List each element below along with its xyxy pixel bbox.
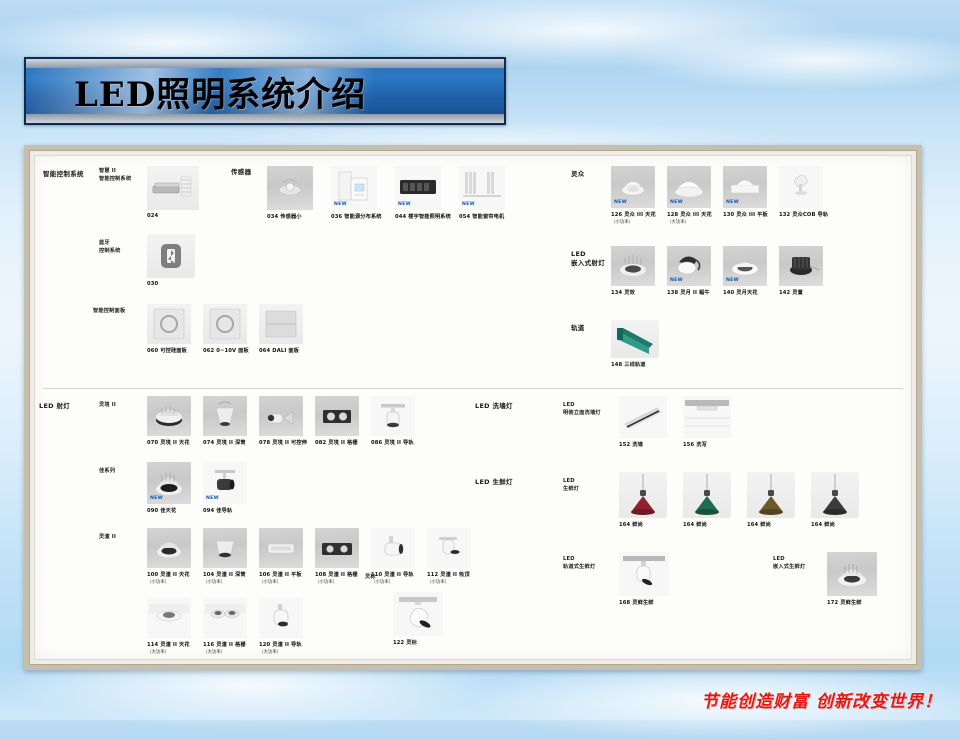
product-caption: 156洗写 [683,441,707,448]
product-thumbnail [619,472,667,518]
product-thumbnail [779,166,823,208]
product-name: 灵月天花 [736,290,757,296]
product-name: 灵潼 II 吸顶 [440,572,469,578]
product-number: 064 [259,348,270,354]
product-name: 灵潼 II 平板 [272,572,301,578]
surface-track-light-icon [393,592,443,636]
product-cell-090[interactable]: NEW 090佳天花 [147,462,191,504]
product-name: 灵潼 II 导轨 [384,572,413,578]
slide-title-banner: LED照明系统介绍 [24,57,506,125]
surface-spotlight-icon [427,528,471,568]
product-thumbnail [611,246,655,286]
product-caption: 142灵置 [779,289,803,296]
product-cell-044[interactable]: NEW 044楼宇智能照明系统 [395,166,441,210]
product-thumbnail: NEW [667,246,711,286]
product-caption: 110灵潼 II 导轨 （小功率） [371,571,414,585]
product-cell-030[interactable]: 030 [147,234,195,278]
product-number: 126 [611,212,622,218]
new-badge: NEW [726,200,739,205]
product-caption: 164鲜尚 [811,521,835,528]
product-name: 洗墙 [632,442,643,448]
product-caption: 134灵效 [611,289,635,296]
product-thumbnail [683,396,731,438]
product-cell-128[interactable]: NEW 128灵众 III 天花 （大功率） [667,166,711,208]
product-number: 164 [619,522,630,528]
new-badge: NEW [334,202,347,207]
product-name: 鲜尚 [696,522,707,528]
product-cell-104[interactable]: 104灵潼 II 深筒 （小功率） [203,528,247,568]
product-number: 060 [147,348,158,354]
product-subnote: （小功率） [203,579,246,585]
product-number: 082 [315,440,326,446]
product-caption: 116灵潼 II 格栅 （大功率） [203,641,246,655]
product-subnote: （大功率） [203,649,246,655]
product-name: 智能窗帘电机 [472,214,504,220]
product-thumbnail: NEW [459,166,505,210]
product-caption: 122灵标 [393,639,417,646]
product-number: 070 [147,440,158,446]
product-thumbnail: NEW [203,462,247,504]
product-caption: 114灵潼 II 天花 （大功率） [147,641,190,655]
product-number: 168 [619,600,630,606]
subgroup-label-control-panel: 智能控制面板 [93,308,125,316]
product-name: 灵境 II 导轨 [384,440,413,446]
product-subnote: （小功率） [611,219,656,225]
sensor-icon [267,166,313,210]
wall-mounted-washer-icon [683,396,731,438]
pendant-lamp-icon [747,472,795,518]
product-number: 156 [683,442,694,448]
product-name: 灵众COB 导轨 [792,212,828,218]
product-name: 灵境 II 格栅 [328,440,357,446]
subgroup-label-jia-series: 佳系列 [99,468,115,476]
product-thumbnail [811,472,859,518]
product-name: 灵潼 II 格栅 [216,642,245,648]
product-name: 传感器小 [280,214,301,220]
new-badge: NEW [462,202,475,207]
product-name: 三线轨道 [624,362,645,368]
product-cell-152[interactable]: 152洗墙 [619,396,667,438]
product-number: 112 [427,572,438,578]
product-cell-156[interactable]: 156洗写 [683,396,731,438]
pendant-lamp-icon [811,472,859,518]
catalog-sheet: 智能控制系统 智慧 II 智能控制系统 [34,155,912,660]
product-number: 024 [147,213,158,219]
product-thumbnail [779,246,823,286]
product-cell-164-brown[interactable]: 164鲜尚 [747,472,795,518]
catalog-sheet-frame: 智能控制系统 智慧 II 智能控制系统 [24,145,922,670]
product-number: 172 [827,600,838,606]
pendant-lamp-icon [683,472,731,518]
product-number: 036 [331,214,342,220]
flat-panel-light-icon [259,528,303,568]
product-caption: 030 [147,281,160,287]
product-thumbnail [259,396,303,436]
product-name: 灵鲜生鲜 [840,600,861,606]
product-cell-034[interactable]: 034传感器小 [267,166,313,210]
product-number: 130 [723,212,734,218]
recessed-downlight-icon [611,246,655,286]
product-number: 116 [203,642,214,648]
product-name: 灵潼 II 格栅 [328,572,357,578]
cloud-decoration [620,30,960,90]
product-cell-064[interactable]: 064DALI 面板 [259,304,303,344]
recessed-downlight-icon [827,552,877,596]
product-cell-112[interactable]: 112灵潼 II 吸顶 （小功率） [427,528,471,568]
product-number: 132 [779,212,790,218]
product-thumbnail: NEW [331,166,377,210]
product-thumbnail [259,598,303,638]
product-cell-138[interactable]: NEW 138灵月 II 幅牛 [667,246,711,286]
adjustable-spotlight-icon [259,396,303,436]
downlight-icon [147,396,191,436]
product-subnote: （小功率） [259,579,302,585]
catalog-sheet-bevel: 智能控制系统 智慧 II 智能控制系统 [29,150,917,665]
pendant-lamp-icon [619,472,667,518]
product-cell-172[interactable]: 172灵鲜生鲜 [827,552,877,596]
category-label-wallwasher: LED 洗墙灯 [475,402,513,411]
product-cell-130[interactable]: NEW 130灵众 III 平板 [723,166,767,208]
product-name: 灵月 II 幅牛 [680,290,709,296]
product-name: 灵潼 II 深筒 [216,572,245,578]
product-number: 094 [203,508,214,514]
product-thumbnail [393,592,443,636]
product-number: 086 [371,440,382,446]
product-caption: 064DALI 面板 [259,347,299,354]
deep-downlight-icon [203,396,247,436]
product-name: 楼宇智能照明系统 [408,214,451,220]
product-name: 鲜尚 [632,522,643,528]
product-cell-164-red[interactable]: 164鲜尚 [619,472,667,518]
product-name: 鲜尚 [824,522,835,528]
category-label-lingzhong: 灵众 [571,170,585,179]
product-thumbnail [315,528,359,568]
product-cell-106[interactable]: 106灵潼 II 平板 （小功率） [259,528,303,568]
product-cell-054[interactable]: NEW 054智能窗帘电机 [459,166,505,210]
product-cell-134[interactable]: 134灵效 [611,246,655,286]
product-cell-060[interactable]: 060可控硅面板 [147,304,191,344]
product-caption: 024 [147,213,160,219]
product-thumbnail [147,166,199,210]
slide-slogan: 节能创造财富 创新改变世界！ [701,687,942,712]
product-name: 佳天花 [160,508,176,514]
product-name: 灵众 III 天花 [680,212,712,218]
downlight-icon [147,598,191,638]
product-number: 100 [147,572,158,578]
product-number: 134 [611,290,622,296]
product-caption: 168灵鲜生鲜 [619,599,654,606]
product-caption: 120灵潼 II 导轨 （大功率） [259,641,302,655]
product-subnote: （小功率） [315,579,358,585]
product-caption: 128灵众 III 天花 （大功率） [667,211,712,225]
product-subnote: （小功率） [371,579,414,585]
subgroup-label-fresh-pendant: LED 生鲜灯 [563,478,579,493]
product-caption: 132灵众COB 导轨 [779,211,828,218]
product-thumbnail: NEW [395,166,441,210]
product-cell-164-green[interactable]: 164鲜尚 [683,472,731,518]
subgroup-label-fresh-recessed: LED 嵌入式生鲜灯 [773,556,805,571]
category-label-track: 轨道 [571,324,585,333]
product-number: 074 [203,440,214,446]
product-cell-110[interactable]: 110灵潼 II 导轨 （小功率） [371,528,415,568]
grille-light-icon [203,598,247,638]
subgroup-label-lingbiao: 灵标 [365,574,376,582]
product-thumbnail [203,396,247,436]
recessed-downlight-dark-icon [779,246,823,286]
downlight-icon [147,528,191,568]
track-spotlight-icon [619,552,669,596]
product-thumbnail [203,304,247,344]
product-thumbnail: NEW [667,166,711,208]
product-cell-036[interactable]: NEW 036智能源分布系统 [331,166,377,210]
category-label-fresh-light: LED 生鲜灯 [475,478,513,487]
grille-light-icon [315,396,359,436]
product-name: 灵潼 II 天花 [160,572,189,578]
product-cell-062[interactable]: 0620~10V 面板 [203,304,247,344]
bluetooth-module-icon [147,234,195,278]
product-caption: 036智能源分布系统 [331,213,382,220]
new-badge: NEW [726,278,739,283]
product-cell-100[interactable]: 100灵潼 II 天花 （小功率） [147,528,191,568]
product-number: 122 [393,640,404,646]
product-caption: 074灵境 II 深筒 [203,439,246,446]
track-rail-icon [611,320,659,358]
product-thumbnail [683,472,731,518]
product-subnote: （小功率） [147,579,190,585]
product-cell-070[interactable]: 070灵境 II 天花 [147,396,191,436]
product-thumbnail [267,166,313,210]
product-number: 140 [723,290,734,296]
product-thumbnail [147,396,191,436]
product-subnote: （大功率） [667,219,712,225]
product-thumbnail [611,320,659,358]
product-caption: 060可控硅面板 [147,347,187,354]
product-cell-132[interactable]: 132灵众COB 导轨 [779,166,823,208]
product-caption: 0620~10V 面板 [203,347,249,354]
product-caption: 104灵潼 II 深筒 （小功率） [203,571,246,585]
product-cell-126[interactable]: NEW 126灵众 III 天花 （小功率） [611,166,655,208]
product-caption: 126灵众 III 天花 （小功率） [611,211,656,225]
subgroup-label-bluetooth: 蓝牙 控制系统 [99,240,121,255]
product-name: 鲜尚 [760,522,771,528]
product-name: 灵潼 II 天花 [160,642,189,648]
category-label-recessed-spotlight: LED 嵌入式射灯 [571,250,605,268]
product-thumbnail [827,552,877,596]
product-caption: 138灵月 II 幅牛 [667,289,710,296]
product-thumbnail [203,528,247,568]
product-number: 106 [259,572,270,578]
product-caption: 082灵境 II 格栅 [315,439,358,446]
product-name: 灵境 II 可控伸 [272,440,307,446]
product-caption: 130灵众 III 平板 [723,211,768,218]
product-thumbnail [203,598,247,638]
product-thumbnail [619,396,667,438]
product-number: 138 [667,290,678,296]
product-subnote: （大功率） [147,649,190,655]
product-name: 0~10V 面板 [216,348,249,354]
product-number: 104 [203,572,214,578]
category-label-smart-control: 智能控制系统 [43,170,84,179]
new-badge: NEW [670,200,683,205]
track-spotlight-icon [371,396,415,436]
product-name: 灵境 II 天花 [160,440,189,446]
product-number: 164 [683,522,694,528]
category-label-sensor: 传感器 [231,168,251,177]
product-caption: 054智能窗帘电机 [459,213,504,220]
product-thumbnail: NEW [723,166,767,208]
product-cell-078[interactable]: 078灵境 II 可控伸 [259,396,303,436]
product-thumbnail: NEW [147,462,191,504]
product-number: 164 [811,522,822,528]
product-caption: 100灵潼 II 天花 （小功率） [147,571,190,585]
new-badge: NEW [150,496,163,501]
product-thumbnail [147,234,195,278]
product-caption: 044楼宇智能照明系统 [395,213,451,220]
wallwasher-icon [619,396,667,438]
product-name: 灵众 III 平板 [736,212,768,218]
product-caption: 164鲜尚 [683,521,707,528]
product-cell-148[interactable]: 148三线轨道 [611,320,659,358]
product-number: 128 [667,212,678,218]
product-cell-142[interactable]: 142灵置 [779,246,823,286]
product-thumbnail [371,528,415,568]
subgroup-label-smart-control-system: 智慧 II 智能控制系统 [99,168,131,183]
product-number: 062 [203,348,214,354]
deep-downlight-icon [203,528,247,568]
product-cell-082[interactable]: 082灵境 II 格栅 [315,396,359,436]
subgroup-label-lingtong: 灵潼 II [99,534,116,542]
grille-light-icon [315,528,359,568]
product-number: 030 [147,281,158,287]
product-caption: 108灵潼 II 格栅 （小功率） [315,571,358,585]
product-caption: 152洗墙 [619,441,643,448]
product-cell-168[interactable]: 168灵鲜生鲜 [619,552,669,596]
product-caption: 070灵境 II 天花 [147,439,190,446]
product-cell-094[interactable]: NEW 094佳导轨 [203,462,247,504]
controller-icon [147,166,199,210]
product-thumbnail [747,472,795,518]
product-cell-164-gray[interactable]: 164鲜尚 [811,472,859,518]
product-number: 108 [315,572,326,578]
new-badge: NEW [614,200,627,205]
product-caption: 086灵境 II 导轨 [371,439,414,446]
product-number: 142 [779,290,790,296]
product-thumbnail [147,598,191,638]
product-name: 灵众 III 天花 [624,212,656,218]
product-subnote: （大功率） [259,649,302,655]
page-title: LED照明系统介绍 [26,67,366,116]
product-cell-114[interactable]: 114灵潼 II 天花 （大功率） [147,598,191,638]
new-badge: NEW [206,496,219,501]
product-thumbnail [147,528,191,568]
product-cell-120[interactable]: 120灵潼 II 导轨 （大功率） [259,598,303,638]
product-number: 034 [267,214,278,220]
product-thumbnail: NEW [611,166,655,208]
product-caption: 112灵潼 II 吸顶 （小功率） [427,571,470,585]
category-label-led-spotlight: LED 射灯 [39,402,70,411]
new-badge: NEW [670,278,683,283]
product-thumbnail [315,396,359,436]
product-subnote: （小功率） [427,579,470,585]
product-cell-108[interactable]: 108灵潼 II 格栅 （小功率） [315,528,359,568]
product-name: 智能源分布系统 [344,214,381,220]
product-name: 灵鲜生鲜 [632,600,653,606]
product-cell-024[interactable]: 024 [147,166,199,210]
product-cell-116[interactable]: 116灵潼 II 格栅 （大功率） [203,598,247,638]
product-number: 090 [147,508,158,514]
product-name: 灵效 [624,290,635,296]
product-thumbnail [371,396,415,436]
product-name: 灵境 II 深筒 [216,440,245,446]
product-thumbnail [147,304,191,344]
dimmer-panel-icon [147,304,191,344]
product-caption: 106灵潼 II 平板 （小功率） [259,571,302,585]
product-number: 078 [259,440,270,446]
subgroup-label-fresh-track: LED 轨道式生鲜灯 [563,556,595,571]
product-caption: 148三线轨道 [611,361,646,368]
product-name: DALI 面板 [272,348,299,354]
subgroup-label-lingjing: 灵境 II [99,402,116,410]
product-thumbnail [259,304,303,344]
product-cell-122[interactable]: 122灵标 [393,592,443,636]
product-thumbnail: NEW [723,246,767,286]
product-thumbnail [619,552,669,596]
product-caption: 094佳导轨 [203,507,232,514]
product-name: 佳导轨 [216,508,232,514]
catalog-right-column: 灵众 NEW 126灵众 III 天花 （小功率） [555,156,911,659]
product-caption: 164鲜尚 [619,521,643,528]
product-name: 灵置 [792,290,803,296]
cob-track-light-icon [779,166,823,208]
product-thumbnail [259,528,303,568]
product-name: 灵标 [406,640,417,646]
product-number: 054 [459,214,470,220]
product-caption: 090佳天花 [147,507,176,514]
product-caption: 078灵境 II 可控伸 [259,439,307,446]
product-number: 114 [147,642,158,648]
product-caption: 172灵鲜生鲜 [827,599,862,606]
product-name: 灵潼 II 导轨 [272,642,301,648]
product-number: 148 [611,362,622,368]
product-number: 152 [619,442,630,448]
track-spotlight-icon [259,598,303,638]
product-number: 164 [747,522,758,528]
product-number: 044 [395,214,406,220]
product-number: 120 [259,642,270,648]
product-name: 可控硅面板 [160,348,187,354]
product-caption: 164鲜尚 [747,521,771,528]
product-caption: 140灵月天花 [723,289,758,296]
track-spotlight-icon [371,528,415,568]
dali-panel-icon [259,304,303,344]
new-badge: NEW [398,202,411,207]
product-cell-074[interactable]: 074灵境 II 深筒 [203,396,247,436]
product-cell-140[interactable]: NEW 140灵月天花 [723,246,767,286]
dimmer-panel-icon [203,304,247,344]
subgroup-label-wallwasher: LED 明装立面洗墙灯 [563,402,601,417]
product-cell-086[interactable]: 086灵境 II 导轨 [371,396,415,436]
product-caption: 034传感器小 [267,213,302,220]
product-thumbnail [427,528,471,568]
product-name: 洗写 [696,442,707,448]
